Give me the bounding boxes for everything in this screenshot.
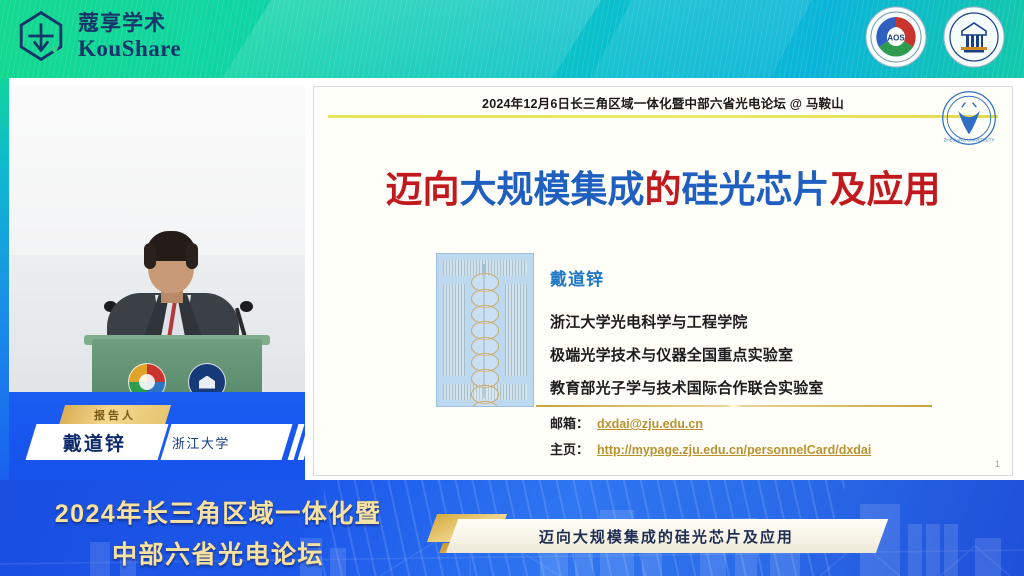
microphone-right-head	[240, 301, 253, 312]
podium: 2024年长三角区域一体化暨中部六省光电论坛 主办单位：安徽省光学学会 承办单位…	[92, 339, 262, 392]
podium-ahut-logo-icon	[188, 363, 226, 392]
title-part-3: 的	[645, 169, 682, 210]
contact-divider	[536, 405, 932, 407]
hexagon-arrow-logo-icon	[14, 9, 68, 63]
talk-title-ribbon-text: 迈向大规模集成的硅光芯片及应用	[539, 526, 794, 547]
email-link[interactable]: dxdai@zju.edu.cn	[597, 417, 703, 431]
silicon-photonic-chip-image	[436, 253, 534, 407]
conference-title-line-2: 中部六省光电论坛	[18, 535, 418, 571]
title-part-5: 及应用	[830, 169, 941, 210]
talk-title-ribbon: 迈向大规模集成的硅光芯片及应用	[446, 519, 888, 553]
slide-header-divider	[328, 115, 998, 118]
svg-text:AOS: AOS	[887, 34, 905, 43]
slide-page-number: 1	[995, 459, 1000, 469]
affiliation-line: 浙江大学光电科学与工程学院	[550, 311, 824, 332]
brand-logo[interactable]: 蔻享学术 KouShare	[14, 9, 181, 63]
email-label: 邮箱：	[550, 413, 589, 432]
zhejiang-university-logo-icon: ZHEJIANG UNIVERSITY	[940, 89, 998, 147]
app-root: 蔻享学术 KouShare AOS	[0, 0, 1024, 576]
organizer-logos: AOS	[864, 5, 1006, 69]
slide-main-title: 迈向大规模集成的硅光芯片及应用	[314, 159, 1012, 213]
speaker-video-photo: 2024年长三角区域一体化暨中部六省光电论坛 主办单位：安徽省光学学会 承办单位…	[9, 85, 305, 392]
reporter-tag-label: 报告人	[94, 407, 136, 423]
title-part-1: 迈向	[386, 169, 460, 210]
affiliation-line: 极端光学技术与仪器全国重点实验室	[550, 344, 824, 365]
conference-title-line-1: 2024年长三角区域一体化暨	[18, 494, 418, 530]
slide-author-name: 戴道锌	[550, 265, 604, 290]
slide-affiliation-list: 浙江大学光电科学与工程学院 极端光学技术与仪器全国重点实验室 教育部光子学与技术…	[550, 311, 824, 398]
brand-name-en: KouShare	[78, 37, 181, 60]
title-part-2: 大规模集成	[460, 169, 645, 210]
speaker-name-plate: 戴道锌 浙江大学	[25, 424, 292, 460]
left-accent-strip	[0, 78, 9, 493]
contact-row-homepage: 主页： http://mypage.zju.edu.cn/personnelCa…	[550, 439, 871, 458]
title-part-4: 硅光芯片	[682, 169, 830, 210]
brand-name-cn: 蔻享学术	[78, 13, 181, 34]
podium-aos-logo-icon	[128, 363, 166, 392]
affiliation-line: 教育部光子学与技术国际合作联合实验室	[550, 377, 824, 398]
slide-header-text: 2024年12月6日长三角区域一体化暨中部六省光电论坛 @ 马鞍山	[314, 93, 1012, 112]
speaker-name: 戴道锌	[63, 429, 126, 456]
speaker-nameplate-area: 报告人 戴道锌 浙江大学	[9, 392, 305, 493]
svg-text:ZHEJIANG UNIVERSITY: ZHEJIANG UNIVERSITY	[944, 138, 995, 143]
reporter-tag: 报告人	[59, 405, 171, 425]
presentation-slide[interactable]: 2024年12月6日长三角区域一体化暨中部六省光电论坛 @ 马鞍山 ZHEJIA…	[313, 86, 1013, 476]
homepage-link[interactable]: http://mypage.zju.edu.cn/personnelCard/d…	[597, 443, 871, 457]
speaker-affiliation: 浙江大学	[172, 433, 230, 452]
contact-row-email: 邮箱： dxdai@zju.edu.cn	[550, 413, 871, 432]
contact-block: 邮箱： dxdai@zju.edu.cn 主页： http://mypage.z…	[550, 413, 871, 458]
anhui-university-of-technology-logo-icon	[942, 5, 1006, 69]
anhui-optical-society-logo-icon: AOS	[864, 5, 928, 69]
top-header-bar: 蔻享学术 KouShare AOS	[0, 0, 1024, 78]
conference-title: 2024年长三角区域一体化暨 中部六省光电论坛	[18, 494, 418, 571]
homepage-label: 主页：	[550, 439, 589, 458]
